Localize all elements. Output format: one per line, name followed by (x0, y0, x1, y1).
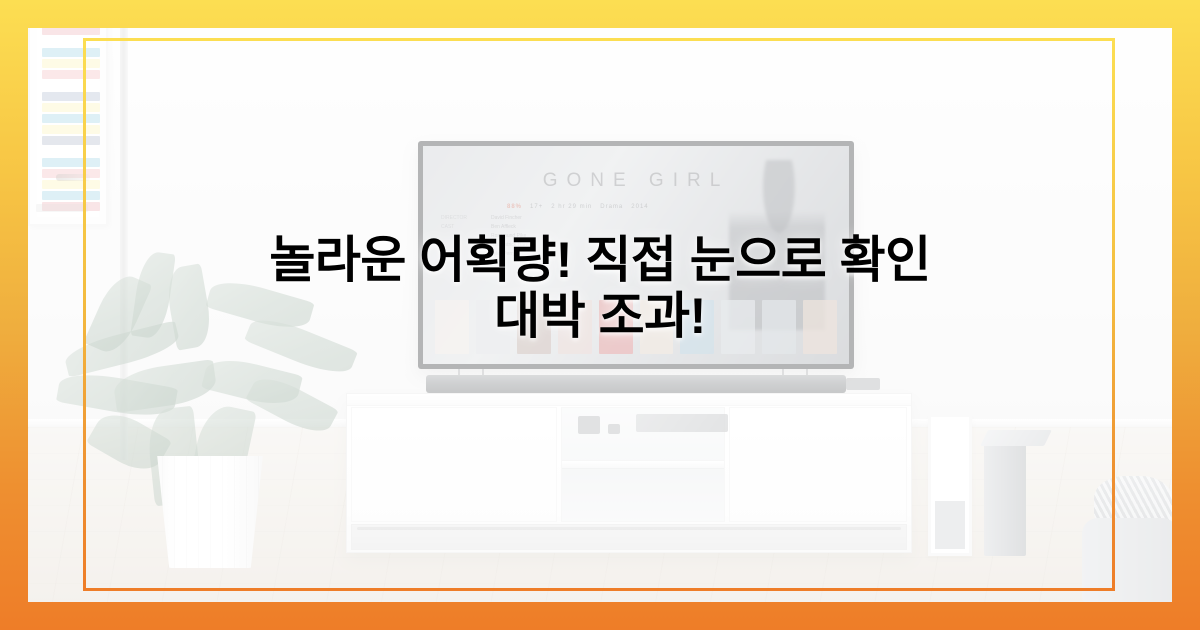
console-top (347, 394, 911, 406)
artwork-stripe (42, 125, 100, 134)
tv-credit-row: DIRECTORDavid Fincher (441, 214, 631, 223)
artwork-caption-plate (36, 204, 88, 212)
console-handle (357, 527, 901, 530)
photo-stage: GONE GIRL 88% 17+ 2 hr 29 min Drama 2014… (28, 28, 1172, 602)
tv-credit-key: DIRECTOR (441, 214, 477, 223)
console-door-right (729, 407, 907, 522)
tv-credit-value: Ben Affleck (491, 223, 516, 232)
artwork-stripe (42, 48, 100, 57)
tv-credit-row: CASTBen Affleck (441, 223, 631, 232)
artwork-stripe (42, 81, 100, 90)
headline-text: 놀라운 어획량! 직접 눈으로 확인 대박 조과! (28, 232, 1172, 344)
artwork-stripe (42, 28, 100, 35)
wall-frame-inner (935, 501, 965, 549)
artwork-stripe (42, 70, 100, 79)
tv-credit-key: CAST (441, 223, 477, 232)
console-small-box (608, 424, 620, 434)
tv-console (346, 393, 912, 553)
tv-duration: 2 hr 29 min (551, 204, 592, 210)
artwork-stripe (42, 59, 100, 68)
console-door-left (351, 407, 557, 522)
artwork-stripe (42, 191, 100, 200)
tv-score: 88% (507, 204, 522, 210)
soundbar (426, 375, 846, 393)
plant-pot (150, 456, 270, 568)
knit-pouf (1070, 476, 1172, 602)
tv-movie-meta: 88% 17+ 2 hr 29 min Drama 2014 (507, 204, 649, 210)
floor-speaker (984, 444, 1026, 556)
striped-artwork-frame (28, 28, 108, 226)
artwork-stripe (42, 180, 100, 189)
artwork-stripe (42, 147, 100, 156)
console-device-box (578, 416, 600, 434)
console-open-shelf (561, 407, 725, 522)
artwork-stripe (42, 136, 100, 145)
artwork-stripes (42, 28, 100, 166)
leaning-wall-frame (928, 414, 972, 556)
artwork-stripe (42, 37, 100, 46)
artwork-stripe (42, 158, 100, 167)
console-media-player (636, 414, 728, 432)
artwork-stripe (42, 114, 100, 123)
artwork-stripe (42, 103, 100, 112)
tv-year: 2014 (631, 204, 648, 210)
tv-movie-title: GONE GIRL (423, 170, 849, 192)
tv-rating: 17+ (530, 204, 543, 210)
console-remote (846, 378, 880, 390)
pouf-body (1082, 518, 1172, 602)
tv-genre: Drama (600, 204, 623, 210)
tv-credit-value: David Fincher (491, 214, 522, 223)
console-shelf-divider (562, 460, 724, 469)
artwork-signature (56, 174, 90, 181)
artwork-stripe (42, 92, 100, 101)
poster-card: GONE GIRL 88% 17+ 2 hr 29 min Drama 2014… (0, 0, 1200, 630)
